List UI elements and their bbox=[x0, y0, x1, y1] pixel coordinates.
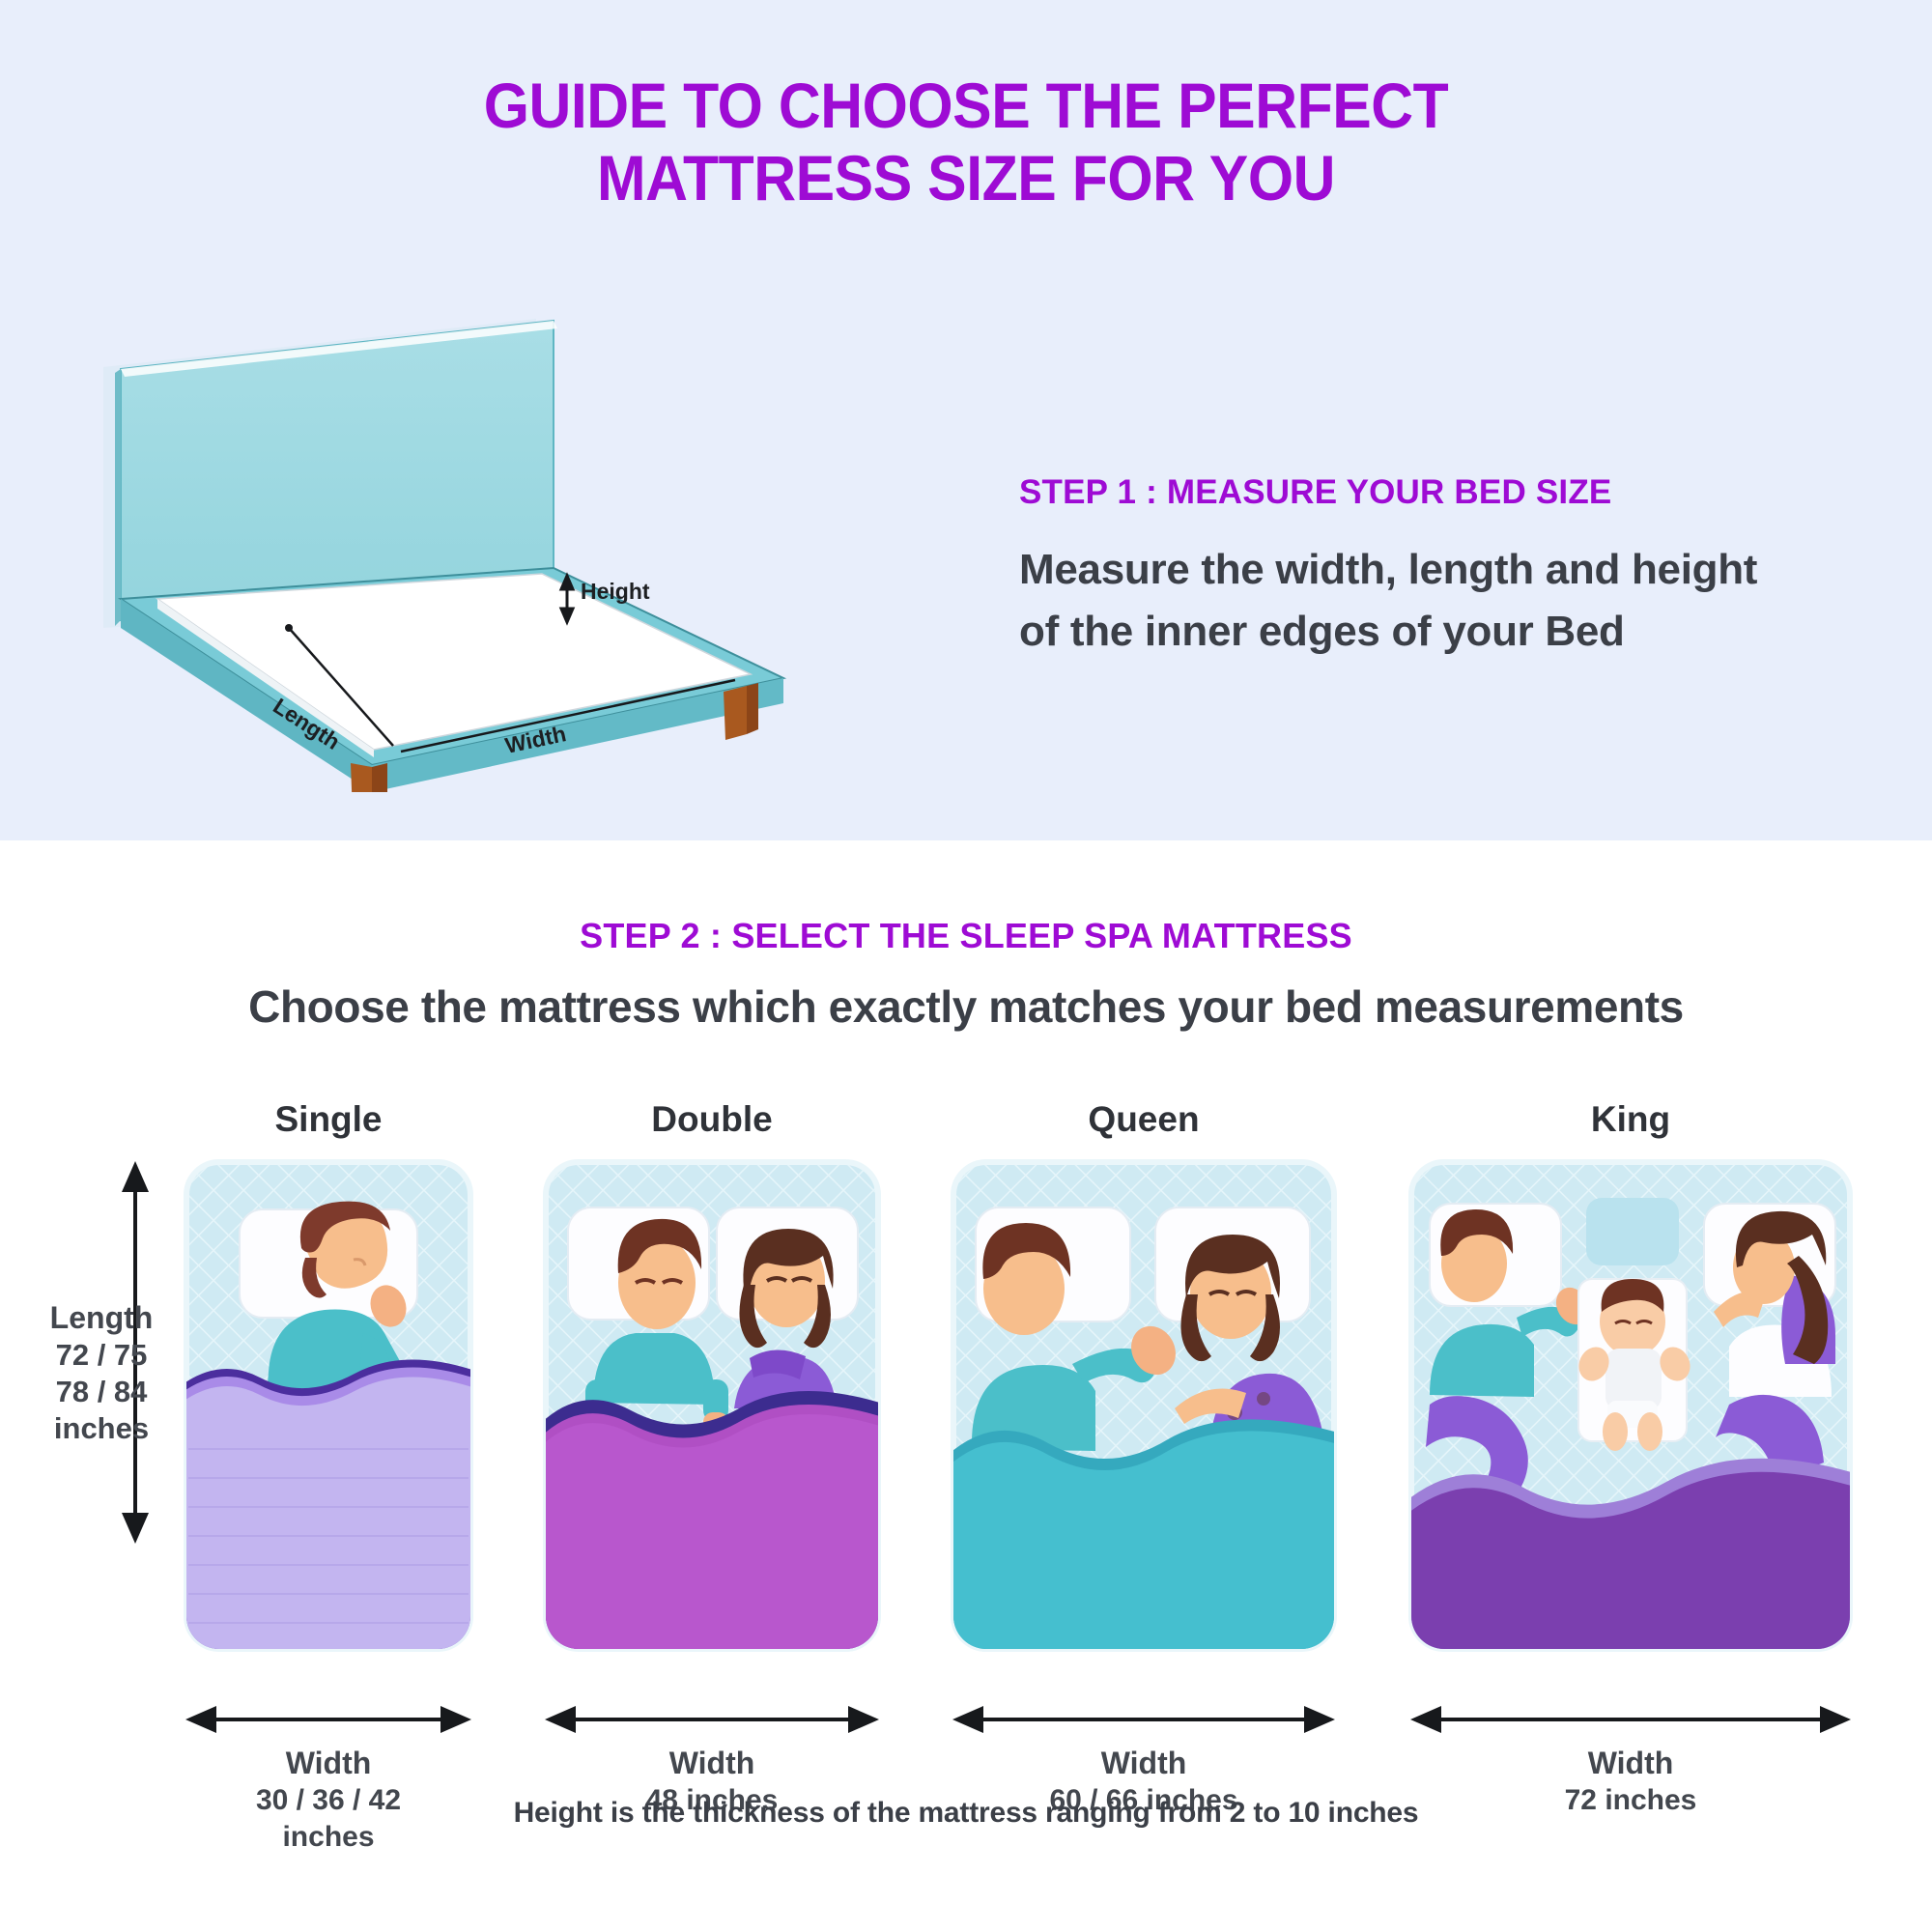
length-axis-title: Length bbox=[50, 1300, 154, 1335]
width-arrow-king bbox=[1408, 1700, 1853, 1739]
page-title: GUIDE TO CHOOSE THE PERFECT MATTRESS SIZ… bbox=[77, 70, 1855, 214]
width-arrow-queen bbox=[951, 1700, 1337, 1739]
width-arrow-double bbox=[543, 1700, 881, 1739]
bottom-section: STEP 2 : SELECT THE SLEEP SPA MATTRESS C… bbox=[0, 840, 1932, 1932]
length-axis-label: Length 72 / 75 78 / 84 inches bbox=[19, 1299, 184, 1446]
mattress-name-queen: Queen bbox=[951, 1099, 1337, 1140]
mattress-illustration-single bbox=[184, 1159, 473, 1652]
mattress-illustration-double bbox=[543, 1159, 881, 1652]
width-title-double: Width bbox=[669, 1746, 755, 1780]
step1-heading: STEP 1 : MEASURE YOUR BED SIZE bbox=[1019, 473, 1869, 512]
mattress-card-double[interactable]: Double bbox=[543, 1159, 881, 1652]
mattress-name-king: King bbox=[1408, 1099, 1853, 1140]
step1-block: STEP 1 : MEASURE YOUR BED SIZE Measure t… bbox=[1019, 473, 1869, 663]
mattress-card-queen[interactable]: Queen bbox=[951, 1159, 1337, 1652]
bed-diagram: Height Length Width bbox=[82, 309, 797, 792]
width-arrow-single bbox=[184, 1700, 473, 1739]
step1-body-line1: Measure the width, length and height bbox=[1019, 539, 1869, 601]
length-unit: inches bbox=[19, 1410, 184, 1447]
length-values-line1: 72 / 75 bbox=[19, 1337, 184, 1374]
bed-height-label: Height bbox=[581, 579, 650, 604]
mattress-name-double: Double bbox=[543, 1099, 881, 1140]
infographic-page: GUIDE TO CHOOSE THE PERFECT MATTRESS SIZ… bbox=[0, 0, 1932, 1932]
page-title-line1: GUIDE TO CHOOSE THE PERFECT bbox=[484, 70, 1449, 141]
step2-heading: STEP 2 : SELECT THE SLEEP SPA MATTRESS bbox=[0, 916, 1932, 956]
length-values-line2: 78 / 84 bbox=[19, 1374, 184, 1410]
top-section: GUIDE TO CHOOSE THE PERFECT MATTRESS SIZ… bbox=[0, 0, 1932, 840]
width-title-king: Width bbox=[1588, 1746, 1674, 1780]
mattress-illustration-queen bbox=[951, 1159, 1337, 1652]
step1-body-line2: of the inner edges of your Bed bbox=[1019, 601, 1869, 663]
step2-subheading: Choose the mattress which exactly matche… bbox=[0, 980, 1932, 1033]
mattress-card-single[interactable]: Single bbox=[184, 1159, 473, 1652]
mattress-card-king[interactable]: King bbox=[1408, 1159, 1853, 1652]
height-footnote: Height is the thickness of the mattress … bbox=[0, 1797, 1932, 1830]
page-title-line2: MATTRESS SIZE FOR YOU bbox=[77, 142, 1855, 214]
width-title-queen: Width bbox=[1101, 1746, 1187, 1780]
mattress-card-row: Single bbox=[184, 1159, 1922, 1681]
bed-illustration-svg: Height Length Width bbox=[82, 309, 797, 792]
width-title-single: Width bbox=[286, 1746, 372, 1780]
mattress-illustration-king bbox=[1408, 1159, 1853, 1652]
mattress-name-single: Single bbox=[184, 1099, 473, 1140]
